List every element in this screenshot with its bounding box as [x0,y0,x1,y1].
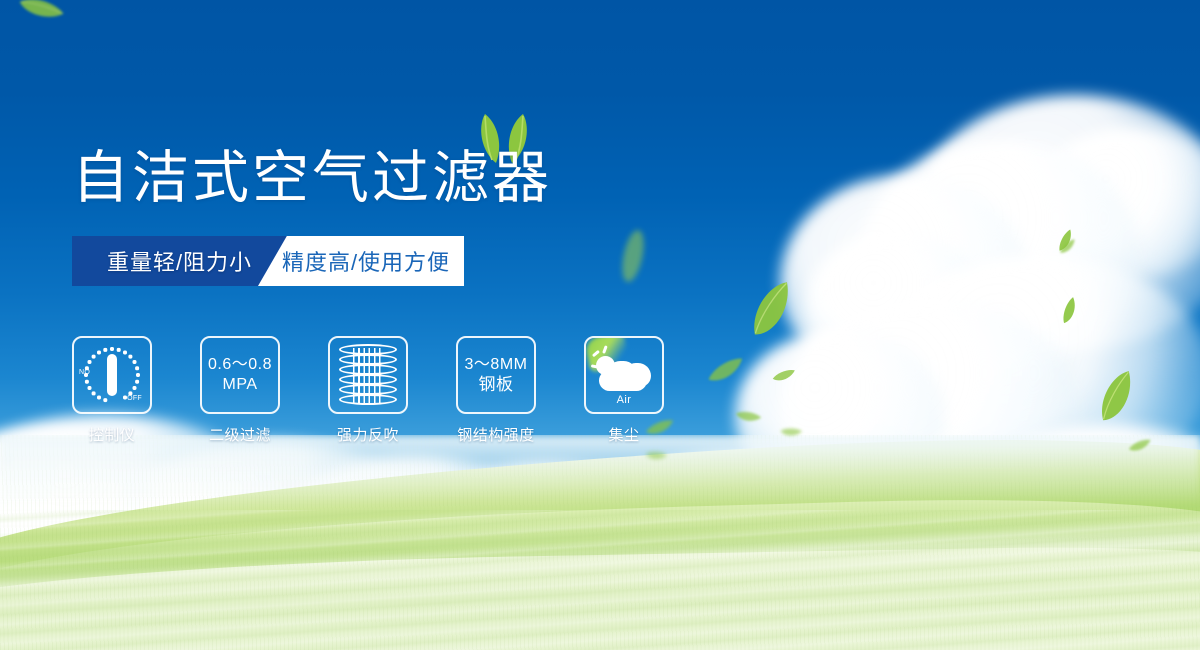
page-title: 自洁式空气过滤器 [72,146,552,210]
dial-off-label: OFF [127,395,142,402]
hero-banner: 自洁式空气过滤器 重量轻/阻力小 精度高/使用方便 [0,0,1200,650]
cloud-lobe [599,370,647,391]
pressure-value-text: 0.6〜0.8 [208,355,272,375]
feature-icon-box [328,336,408,414]
feature-item-blowback[interactable]: 强力反吹 [328,336,408,445]
feature-item-pressure[interactable]: 0.6〜0.8 MPA 二级过滤 [200,336,280,445]
dial-on-label: NO [79,369,90,376]
floating-leaf-icon [771,366,797,385]
subtitle-right-panel: 精度高/使用方便 [258,236,464,286]
feature-icon-box: Air [584,336,664,414]
feature-label: 钢结构强度 [438,424,554,445]
feature-list: NO OFF 控制仪 0.6〜0.8 MPA 二级过滤 [72,336,664,445]
filter-stack-icon [339,344,397,406]
pressure-unit-text: MPA [223,375,258,395]
feature-label: 集尘 [584,424,664,445]
steel-thickness-text: 3〜8MM [465,355,528,375]
cloud-sun-air-icon: Air [591,345,657,405]
feature-item-steel[interactable]: 3〜8MM 钢板 钢结构强度 [456,336,536,445]
grass-field [0,435,1200,650]
dial-indicator [107,354,117,396]
feature-label: 二级过滤 [200,424,280,445]
feature-icon-box: NO OFF [72,336,152,414]
air-label: Air [591,394,657,406]
feature-item-dust[interactable]: Air 集尘 [584,336,664,445]
feature-icon-box: 0.6〜0.8 MPA [200,336,280,414]
subtitle-left-panel: 重量轻/阻力小 [72,236,287,286]
subtitle-left-text: 重量轻/阻力小 [107,245,252,277]
subtitle-right-text: 精度高/使用方便 [282,245,450,277]
feature-label: 控制仪 [72,424,152,445]
feature-label: 强力反吹 [328,424,408,445]
horizon-haze [0,435,1200,505]
feature-item-control[interactable]: NO OFF 控制仪 [72,336,152,445]
control-dial-icon: NO OFF [80,345,144,405]
subtitle-bar: 重量轻/阻力小 精度高/使用方便 [72,236,464,286]
feature-icon-box: 3〜8MM 钢板 [456,336,536,414]
steel-plate-text: 钢板 [479,375,514,395]
